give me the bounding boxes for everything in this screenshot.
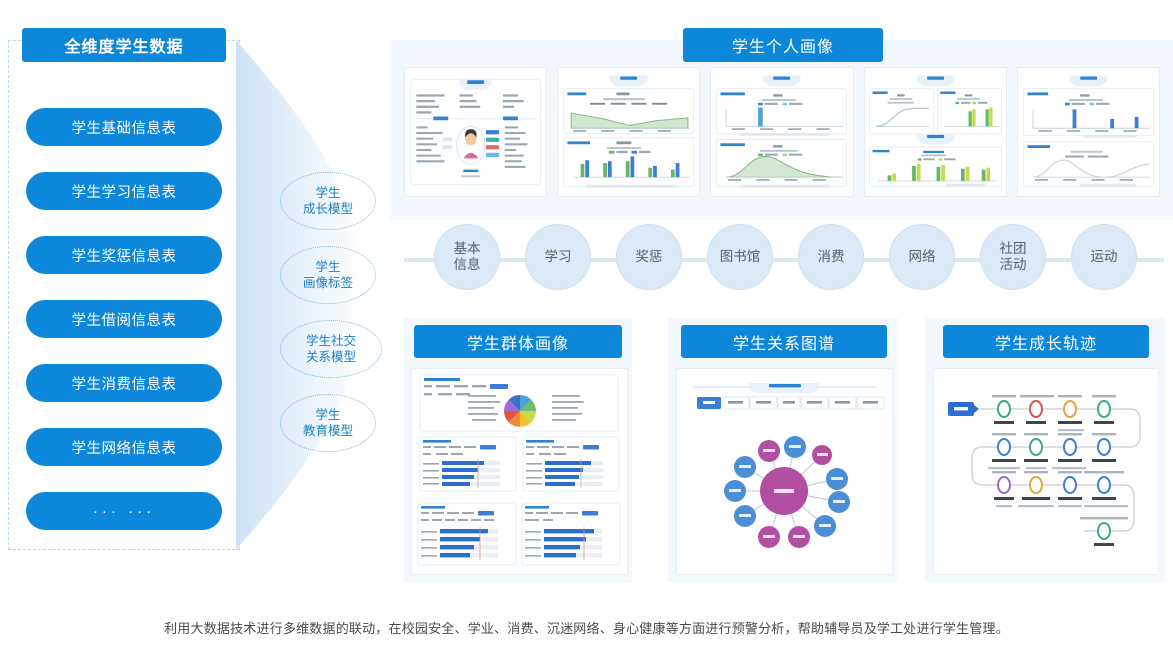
sidebar-item-borrowing-info[interactable]: 学生借阅信息表 <box>26 300 222 338</box>
pipeline-node-network-line1: 网络 <box>909 249 936 265</box>
pipeline-node-basic-info-line2: 信息 <box>454 257 481 273</box>
model-social-relation[interactable]: 学生社交 关系模型 <box>280 320 382 378</box>
pie-and-bar-preview-icon <box>412 369 627 574</box>
dashboard-thumbnail-row <box>404 67 1160 197</box>
relationship-graph-title: 学生关系图谱 <box>681 325 887 358</box>
pipeline-node-reward-punishment[interactable]: 奖惩 <box>616 224 682 290</box>
pipeline-node-consumption[interactable]: 消费 <box>798 224 864 290</box>
pipeline-node-club-activity[interactable]: 社团 活动 <box>980 224 1046 290</box>
growth-trajectory-title: 学生成长轨迹 <box>943 325 1149 358</box>
model-education-line2: 教育模型 <box>303 423 353 439</box>
pipeline-node-network[interactable]: 网络 <box>889 224 955 290</box>
model-growth[interactable]: 学生 成长模型 <box>280 172 376 230</box>
pipeline-node-club-activity-line1: 社团 <box>1000 241 1027 257</box>
pipeline-node-club-activity-line2: 活动 <box>1000 257 1027 273</box>
thumbnail-multi-chart-dashboard[interactable] <box>864 67 1007 197</box>
pipeline-node-basic-info[interactable]: 基本 信息 <box>434 224 500 290</box>
model-social-relation-line1: 学生社交 <box>306 333 356 349</box>
growth-trajectory-preview[interactable] <box>933 368 1159 575</box>
thumbnail-student-profile-card[interactable] <box>404 67 547 197</box>
sidebar-item-basic-info[interactable]: 学生基础信息表 <box>26 108 222 146</box>
sidebar-item-reward-punishment-info[interactable]: 学生奖惩信息表 <box>26 236 222 274</box>
pipeline-node-sports[interactable]: 运动 <box>1071 224 1137 290</box>
pipeline-node-sports-line1: 运动 <box>1091 249 1118 265</box>
network-dashboard-preview-icon <box>1018 68 1159 196</box>
pipeline-node-reward-punishment-line1: 奖惩 <box>636 249 663 265</box>
pipeline-node-study-line1: 学习 <box>545 249 572 265</box>
model-portrait-tag-line1: 学生 <box>315 259 340 275</box>
group-portrait-title: 学生群体画像 <box>414 325 622 358</box>
model-education[interactable]: 学生 教育模型 <box>280 394 376 452</box>
pipeline-node-library[interactable]: 图书馆 <box>707 224 773 290</box>
sidebar-title: 全维度学生数据 <box>22 28 226 62</box>
model-growth-line1: 学生 <box>315 185 340 201</box>
sidebar-item-list: 学生基础信息表 学生学习信息表 学生奖惩信息表 学生借阅信息表 学生消费信息表 … <box>26 108 222 556</box>
timeline-preview-icon <box>934 369 1158 574</box>
page-caption: 利用大数据技术进行多维数据的联动，在校园安全、学业、消费、沉迷网络、身心健康等方… <box>0 618 1173 637</box>
sidebar-item-consumption-info[interactable]: 学生消费信息表 <box>26 364 222 402</box>
pipeline-node-basic-info-line1: 基本 <box>454 241 481 257</box>
model-social-relation-line2: 关系模型 <box>306 349 356 365</box>
group-portrait-preview[interactable] <box>411 368 628 575</box>
thumbnail-single-bar-dashboard[interactable] <box>710 67 853 197</box>
trend-dashboard-preview-icon <box>558 68 699 196</box>
pipeline-track <box>404 258 1164 262</box>
sidebar-item-more[interactable]: ··· ··· <box>26 492 222 530</box>
sidebar-item-study-info[interactable]: 学生学习信息表 <box>26 172 222 210</box>
sidebar-item-network-info[interactable]: 学生网络信息表 <box>26 428 222 466</box>
radial-graph-preview-icon <box>677 369 892 574</box>
model-list: 学生 成长模型 学生 画像标签 学生社交 关系模型 学生 教育模型 <box>280 172 392 468</box>
thumbnail-network-dashboard[interactable] <box>1017 67 1160 197</box>
model-portrait-tag-line2: 画像标签 <box>303 275 353 291</box>
model-education-line1: 学生 <box>315 407 340 423</box>
multi-chart-dashboard-preview-icon <box>865 68 1006 196</box>
relationship-graph-preview[interactable] <box>676 368 893 575</box>
single-bar-dashboard-preview-icon <box>711 68 852 196</box>
pipeline-node-library-line1: 图书馆 <box>720 249 761 265</box>
thumbnail-trend-dashboard[interactable] <box>557 67 700 197</box>
model-growth-line2: 成长模型 <box>303 201 353 217</box>
pipeline-node-study[interactable]: 学习 <box>525 224 591 290</box>
dimension-pipeline: 基本 信息 学习 奖惩 图书馆 消费 网络 社团 活动 运动 <box>404 224 1164 296</box>
personal-portrait-title: 学生个人画像 <box>683 28 883 62</box>
pipeline-node-consumption-line1: 消费 <box>818 249 845 265</box>
model-portrait-tag[interactable]: 学生 画像标签 <box>280 246 376 304</box>
profile-card-preview-icon <box>405 68 546 196</box>
